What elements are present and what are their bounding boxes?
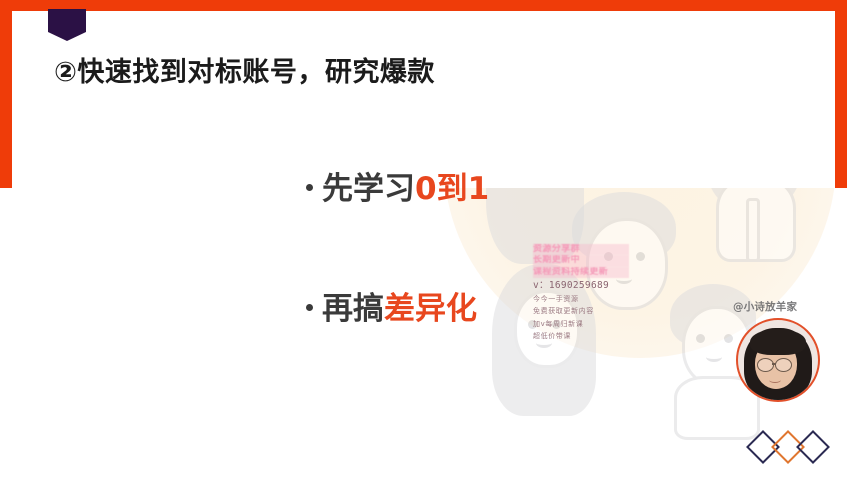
avatar-mouth: [769, 377, 781, 383]
bullet-dot-icon: [306, 184, 313, 191]
watermark-band-2: 长期更新中: [533, 255, 629, 266]
avatar-glasses-left: [757, 358, 774, 372]
avatar: [736, 318, 820, 402]
avatar-handle: @小诗放羊家: [733, 299, 797, 314]
frame-top-bar: [0, 0, 847, 11]
bullet-2-highlight: 差异化: [384, 291, 477, 327]
watermark-contact-id: v：1690259689: [533, 280, 629, 292]
frame-right-bar: [835, 0, 847, 188]
bullet-1-lead: 先学习: [322, 171, 415, 207]
watermark-line-4: 超低价带课: [533, 332, 629, 341]
avatar-glasses-bridge: [772, 363, 776, 365]
watermark-line-1: 今今一手资源: [533, 295, 629, 304]
bullet-dot-icon: [306, 304, 313, 311]
slide-canvas: ②快速找到对标账号，研究爆款 先学习0到1 再搞差异化 资源分享群 长期更新中 …: [0, 0, 847, 478]
bullet-item-1: 先学习0到1: [306, 163, 489, 208]
avatar-glasses-right: [775, 358, 792, 372]
bullet-2-lead: 再搞: [322, 291, 384, 327]
watermark-band-1: 资源分享群: [533, 244, 629, 255]
watermark-band-3: 课程资料持续更新: [533, 267, 629, 278]
frame-left-bar: [0, 0, 12, 188]
avatar-fringe: [750, 329, 806, 355]
diamond-icon-right: [796, 430, 830, 464]
watermark-line-3: 加v每周归新课: [533, 320, 629, 329]
bullet-item-2: 再搞差异化: [306, 283, 477, 328]
watermark-block: 资源分享群 长期更新中 课程资料持续更新 v：1690259689 今今一手资源…: [533, 244, 629, 341]
avatar-badge: @小诗放羊家: [736, 318, 816, 398]
white-header-panel: [12, 11, 835, 188]
diamond-decoration: [748, 430, 834, 462]
watermark-line-2: 免费获取更新内容: [533, 307, 629, 316]
page-title: ②快速找到对标账号，研究爆款: [54, 50, 435, 89]
bullet-1-highlight: 0到1: [415, 171, 489, 207]
